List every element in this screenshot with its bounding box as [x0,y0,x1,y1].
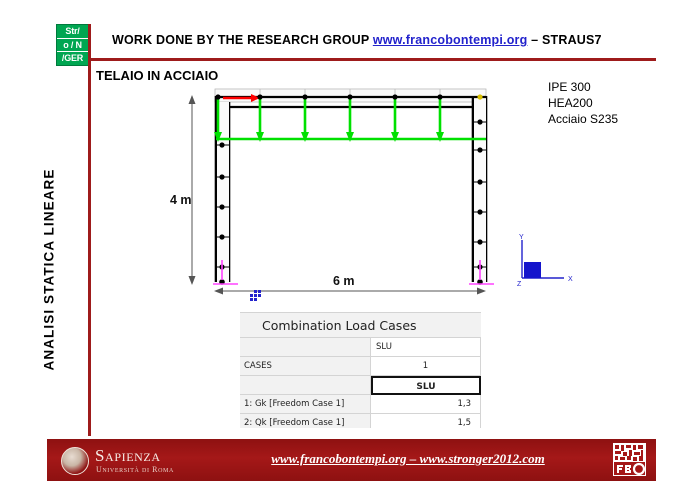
material-steel-grade: Acciaio S235 [548,111,618,127]
dimension-height [189,95,196,285]
table-title: Combination Load Cases [240,313,481,338]
table-cell-label: 2: Qk [Freedom Case 1] [240,414,371,428]
slide-root: Str/ o / N /GER WORK DONE BY THE RESEARC… [0,0,700,495]
table-cell-value: 1 [371,357,481,376]
table-cell-label: 1: Gk [Freedom Case 1] [240,395,371,414]
table-row[interactable]: 2: Qk [Freedom Case 1] 1,5 [240,414,481,428]
table-row[interactable]: CASES 1 [240,357,481,376]
header-title: WORK DONE BY THE RESEARCH GROUP www.fran… [112,33,657,47]
material-beam-section: IPE 300 [548,79,618,95]
axis-label-z: Z [517,281,522,288]
dimension-width-label: 6 m [333,274,355,288]
logo-line-2: o / N [57,39,88,53]
header-title-prefix: WORK DONE BY THE RESEARCH GROUP [112,33,373,47]
sapienza-seal-icon [61,447,89,475]
logo-line-3: /GER [57,52,88,65]
footer-bar: Sapienza Università di Roma www.francobo… [47,439,656,481]
university-name: Sapienza [95,447,161,464]
table-row-group[interactable]: SLU [240,338,481,357]
page-title: TELAIO IN ACCIAIO [96,68,218,83]
material-column-section: HEA200 [548,95,618,111]
table-cell-selected-header[interactable]: SLU [371,376,481,395]
footer-links[interactable]: www.francobontempi.org – www.stronger201… [243,451,573,467]
axis-label-y: Y [519,234,524,241]
header-title-suffix: – STRAUS7 [527,33,601,47]
axis-triad: Y X Z [512,232,582,288]
axis-label-x: X [568,276,573,283]
table-col-group-label: SLU [371,338,481,357]
frame-svg: 4 m [150,82,550,302]
header-divider [88,58,656,61]
column-node-ticks [217,122,486,267]
table-row[interactable]: SLU [240,376,481,395]
table-cell-value: 1,3 [371,395,481,414]
table-row[interactable]: 1: Gk [Freedom Case 1] 1,3 [240,395,481,414]
sidebar-divider [88,24,91,436]
university-subtitle: Università di Roma [96,465,174,474]
distributed-load-arrows [218,97,440,138]
table-cell-label [240,376,371,395]
table-cell-label: CASES [240,357,371,376]
dimension-height-label: 4 m [170,193,192,207]
table-cell-blank [240,338,371,357]
header-title-link[interactable]: www.francobontempi.org [373,33,528,47]
table-cell-value: 1,5 [371,414,481,428]
fbo-logo [613,443,646,476]
selection-marker-icon [250,290,264,304]
logo-line-1: Str/ [57,25,88,39]
sidebar-vertical-label: ANALISI STATICA LINEARE [42,155,57,385]
distributed-load-arrowheads [214,132,444,142]
frame-diagram: 4 m [150,82,550,302]
stronger-logo: Str/ o / N /GER [56,24,89,66]
materials-note: IPE 300 HEA200 Acciaio S235 [548,79,618,127]
combination-load-cases-table[interactable]: Combination Load Cases SLU CASES 1 SLU 1… [240,312,481,428]
